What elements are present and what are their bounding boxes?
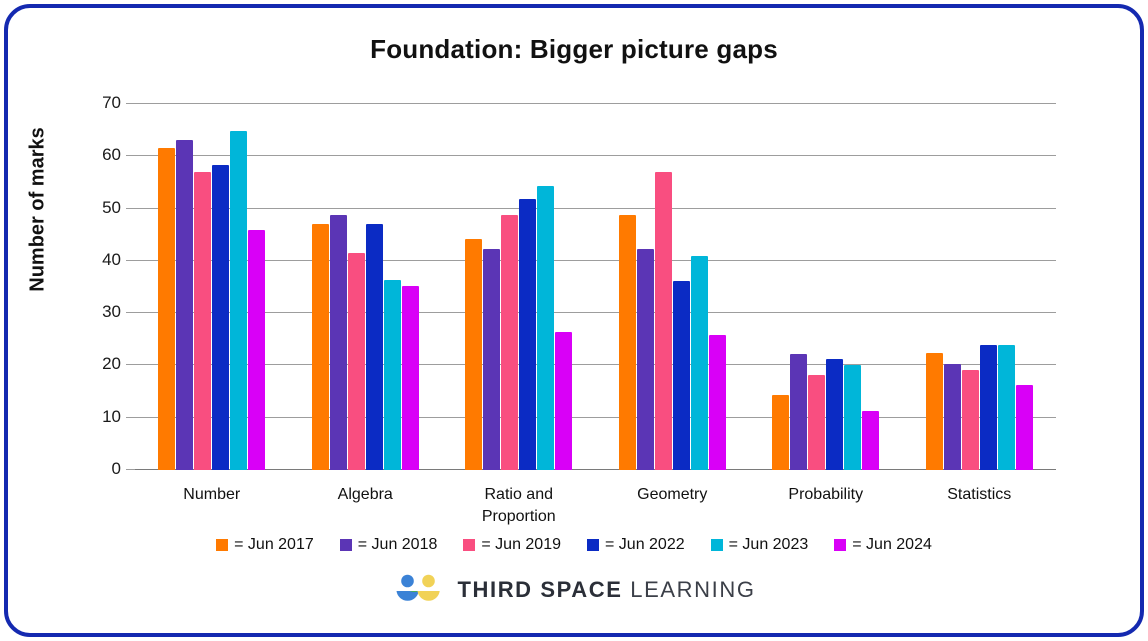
bar-number-series-1[interactable] bbox=[176, 140, 193, 470]
bar-geometry-series-0[interactable] bbox=[619, 215, 636, 470]
bar-number-series-4[interactable] bbox=[230, 131, 247, 470]
bar-probability-series-4[interactable] bbox=[844, 365, 861, 470]
y-tick-mark-20 bbox=[126, 364, 135, 365]
legend-swatch-icon bbox=[463, 539, 475, 551]
bar-ratio-and-proportion-series-1[interactable] bbox=[483, 249, 500, 470]
bar-ratio-and-proportion-series-0[interactable] bbox=[465, 239, 482, 470]
bar-group-algebra: Algebra bbox=[289, 104, 443, 470]
bar-algebra-series-4[interactable] bbox=[384, 280, 401, 470]
bar-statistics-series-2[interactable] bbox=[962, 370, 979, 470]
bar-number-series-5[interactable] bbox=[248, 230, 265, 470]
y-tick-label-10: 10 bbox=[102, 407, 121, 427]
legend-swatch-icon bbox=[340, 539, 352, 551]
y-tick-mark-60 bbox=[126, 155, 135, 156]
legend-swatch-icon bbox=[216, 539, 228, 551]
plot-area: 010203040506070 NumberAlgebraRatio andPr… bbox=[135, 104, 1056, 470]
bar-ratio-and-proportion-series-2[interactable] bbox=[501, 215, 518, 470]
legend-label: = Jun 2017 bbox=[234, 536, 314, 554]
y-tick-mark-30 bbox=[126, 312, 135, 313]
y-tick-label-50: 50 bbox=[102, 198, 121, 218]
legend-label: = Jun 2019 bbox=[481, 536, 561, 554]
legend-swatch-icon bbox=[711, 539, 723, 551]
legend-label: = Jun 2018 bbox=[358, 536, 438, 554]
bar-algebra-series-0[interactable] bbox=[312, 224, 329, 470]
bar-ratio-and-proportion-series-4[interactable] bbox=[537, 186, 554, 470]
bar-statistics-series-4[interactable] bbox=[998, 345, 1015, 470]
legend-swatch-icon bbox=[834, 539, 846, 551]
legend-label: = Jun 2023 bbox=[729, 536, 809, 554]
y-tick-label-60: 60 bbox=[102, 145, 121, 165]
y-tick-label-70: 70 bbox=[102, 93, 121, 113]
chart-card: Foundation: Bigger picture gaps Number o… bbox=[4, 4, 1144, 637]
legend-label: = Jun 2024 bbox=[852, 536, 932, 554]
bar-probability-series-1[interactable] bbox=[790, 354, 807, 470]
legend-item-jun-2022[interactable]: = Jun 2022 bbox=[587, 536, 685, 554]
legend-item-jun-2024[interactable]: = Jun 2024 bbox=[834, 536, 932, 554]
legend: = Jun 2017= Jun 2018= Jun 2019= Jun 2022… bbox=[8, 536, 1140, 554]
bar-probability-series-2[interactable] bbox=[808, 375, 825, 470]
bar-geometry-series-3[interactable] bbox=[673, 281, 690, 470]
bar-number-series-2[interactable] bbox=[194, 172, 211, 470]
bar-probability-series-3[interactable] bbox=[826, 359, 843, 470]
bar-probability-series-0[interactable] bbox=[772, 395, 789, 470]
y-tick-mark-40 bbox=[126, 260, 135, 261]
bar-geometry-series-2[interactable] bbox=[655, 172, 672, 470]
logo-wordmark: THIRD SPACE LEARNING bbox=[457, 577, 755, 603]
legend-item-jun-2018[interactable]: = Jun 2018 bbox=[340, 536, 438, 554]
bar-ratio-and-proportion-series-3[interactable] bbox=[519, 199, 536, 470]
y-tick-label-0: 0 bbox=[112, 459, 121, 479]
bar-geometry-series-5[interactable] bbox=[709, 335, 726, 470]
bar-ratio-and-proportion-series-5[interactable] bbox=[555, 332, 572, 470]
legend-item-jun-2023[interactable]: = Jun 2023 bbox=[711, 536, 809, 554]
legend-item-jun-2019[interactable]: = Jun 2019 bbox=[463, 536, 561, 554]
legend-label: = Jun 2022 bbox=[605, 536, 685, 554]
bar-statistics-series-1[interactable] bbox=[944, 364, 961, 470]
y-tick-label-30: 30 bbox=[102, 302, 121, 322]
y-tick-mark-70 bbox=[126, 103, 135, 104]
legend-item-jun-2017[interactable]: = Jun 2017 bbox=[216, 536, 314, 554]
bar-algebra-series-5[interactable] bbox=[402, 286, 419, 470]
legend-swatch-icon bbox=[587, 539, 599, 551]
logo-brand-bold: THIRD SPACE bbox=[457, 577, 622, 602]
bar-statistics-series-0[interactable] bbox=[926, 353, 943, 470]
bar-number-series-3[interactable] bbox=[212, 165, 229, 470]
y-tick-mark-50 bbox=[126, 208, 135, 209]
bar-algebra-series-1[interactable] bbox=[330, 215, 347, 470]
y-tick-label-40: 40 bbox=[102, 250, 121, 270]
bar-statistics-series-5[interactable] bbox=[1016, 385, 1033, 470]
y-tick-mark-0 bbox=[126, 469, 135, 470]
bar-algebra-series-2[interactable] bbox=[348, 253, 365, 470]
bar-group-ratio-and-proportion: Ratio andProportion bbox=[442, 104, 596, 470]
bar-group-number: Number bbox=[135, 104, 289, 470]
y-axis-label: Number of marks bbox=[27, 120, 50, 300]
bar-statistics-series-3[interactable] bbox=[980, 345, 997, 470]
third-space-learning-logo-mark bbox=[392, 573, 444, 607]
bar-group-probability: Probability bbox=[749, 104, 903, 470]
bar-number-series-0[interactable] bbox=[158, 148, 175, 470]
bar-algebra-series-3[interactable] bbox=[366, 224, 383, 470]
y-tick-mark-10 bbox=[126, 417, 135, 418]
logo-brand-light: LEARNING bbox=[630, 577, 755, 602]
bar-geometry-series-1[interactable] bbox=[637, 249, 654, 470]
y-tick-label-20: 20 bbox=[102, 354, 121, 374]
bar-probability-series-5[interactable] bbox=[862, 411, 879, 470]
bar-group-geometry: Geometry bbox=[596, 104, 750, 470]
brand-logo: THIRD SPACE LEARNING bbox=[8, 573, 1140, 607]
bar-group-statistics: Statistics bbox=[903, 104, 1057, 470]
bar-geometry-series-4[interactable] bbox=[691, 256, 708, 470]
page-title: Foundation: Bigger picture gaps bbox=[8, 34, 1140, 65]
x-axis-label-statistics: Statistics bbox=[889, 484, 1069, 506]
